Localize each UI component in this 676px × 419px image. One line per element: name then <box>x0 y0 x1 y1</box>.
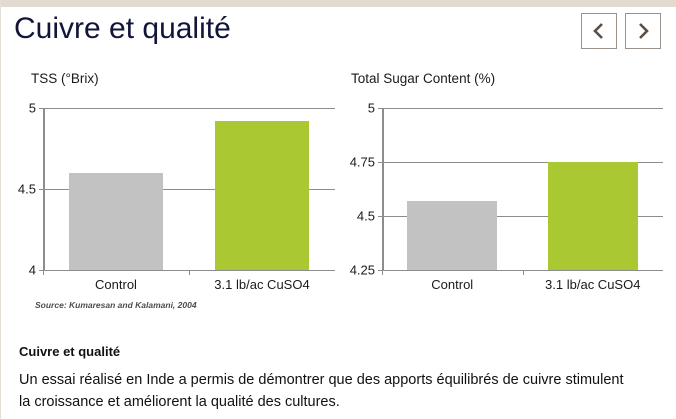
prev-button[interactable] <box>581 13 617 49</box>
slide-page: Cuivre et qualité TSS (°Brix) <box>0 0 676 419</box>
x-axis-tick <box>43 270 44 275</box>
plot-area: 4.254.54.755Control3.1 lb/ac CuSO4 <box>382 108 663 270</box>
next-button[interactable] <box>625 13 661 49</box>
gridline <box>43 108 335 109</box>
x-axis-tick <box>382 270 383 275</box>
x-axis-category-label: 3.1 lb/ac CuSO4 <box>214 277 309 292</box>
page-title: Cuivre et qualité <box>14 12 231 46</box>
bar-treatment <box>548 162 638 270</box>
chevron-left-icon <box>589 21 609 41</box>
chart-title: TSS (°Brix) <box>31 71 99 86</box>
x-axis-category-label: 3.1 lb/ac CuSO4 <box>545 277 640 292</box>
caption-body: Un essai réalisé en Inde a permis de dém… <box>19 369 634 413</box>
x-axis-tick <box>523 270 524 275</box>
y-axis-line <box>382 108 384 270</box>
carousel-nav <box>581 13 661 49</box>
x-axis-category-label: Control <box>431 277 473 292</box>
bar-control <box>69 173 162 270</box>
y-tick-mark <box>39 189 43 190</box>
chart-total-sugar: Total Sugar Content (%) 4.254.54.755Cont… <box>341 62 671 320</box>
y-tick-label: 4.5 <box>357 209 375 224</box>
bar-control <box>407 201 497 270</box>
y-tick-mark <box>378 162 382 163</box>
y-tick-mark <box>378 108 382 109</box>
y-tick-label: 4.25 <box>350 263 375 278</box>
chart-tss: TSS (°Brix) 44.55Control3.1 lb/ac CuSO4 … <box>13 62 343 320</box>
y-tick-label: 4.75 <box>350 155 375 170</box>
top-accent-strip <box>1 0 676 7</box>
y-tick-label: 5 <box>368 101 375 116</box>
bar-treatment <box>215 121 308 270</box>
source-note: Source: Kumaresan and Kalamani, 2004 <box>35 300 197 310</box>
x-axis-category-label: Control <box>95 277 137 292</box>
caption-heading: Cuivre et qualité <box>19 344 120 359</box>
gridline <box>382 108 663 109</box>
y-tick-label: 4.5 <box>18 182 36 197</box>
charts-area: TSS (°Brix) 44.55Control3.1 lb/ac CuSO4 … <box>1 62 676 320</box>
plot-area: 44.55Control3.1 lb/ac CuSO4 <box>43 108 335 270</box>
y-tick-label: 5 <box>29 101 36 116</box>
y-tick-mark <box>378 216 382 217</box>
y-tick-label: 4 <box>29 263 36 278</box>
x-axis-tick <box>189 270 190 275</box>
chart-title: Total Sugar Content (%) <box>351 71 495 86</box>
chevron-right-icon <box>633 21 653 41</box>
slide-header: Cuivre et qualité <box>1 7 676 59</box>
y-tick-mark <box>39 108 43 109</box>
